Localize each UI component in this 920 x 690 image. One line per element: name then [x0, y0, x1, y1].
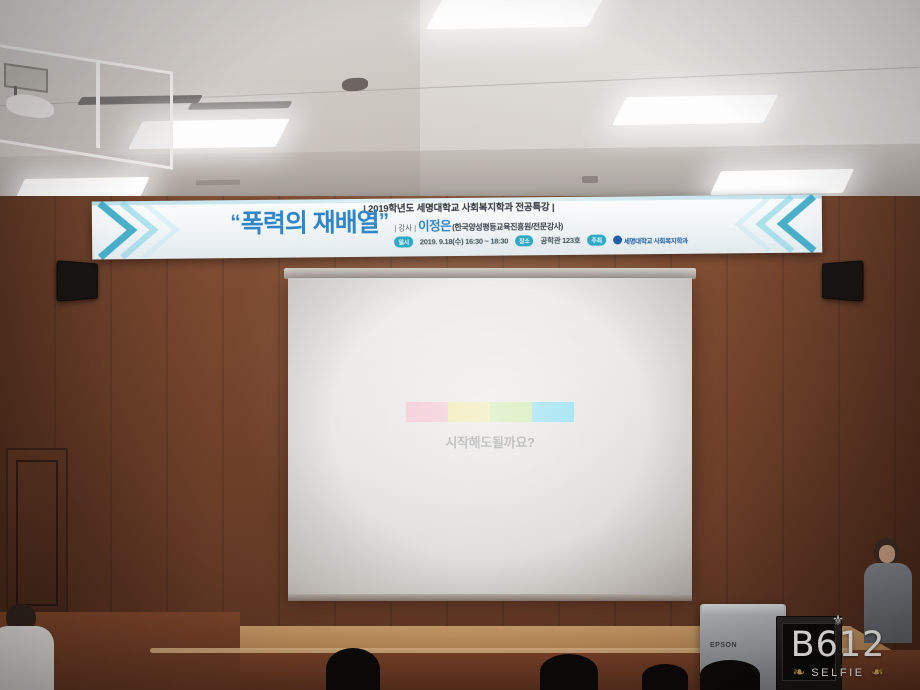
ceiling: [0, 0, 920, 205]
av-equipment-case: [776, 616, 842, 690]
door-panel: [16, 460, 58, 606]
av-equipment-panel: [782, 623, 836, 681]
banner-speaker-name: 이정은: [418, 215, 451, 234]
banner-content: | 2019학년도 세명대학교 사회복지학과 전공특강 | “ 폭력의 재배열 …: [192, 195, 727, 258]
university-emblem-icon: [613, 235, 622, 244]
banner-speaker-row: | 강사 | 이정은 (한국양성평등교육진흥원/전문강사): [394, 213, 688, 235]
screen-bottom-bar: [288, 594, 692, 601]
ceiling-mount-post: [96, 60, 100, 149]
slide-caption-text: 시작해도될까요?: [288, 432, 692, 451]
audience-silhouette: [540, 654, 598, 690]
slide-bar-segment-pink: [406, 402, 448, 422]
banner-host-logo: 세명대학교 사회복지학과: [613, 234, 688, 245]
side-door: [6, 448, 68, 622]
lecture-hall-photo: 시작해도될까요? | 2019학년도 세명대학교 사회복지학과 전공특강 | “: [0, 0, 920, 690]
banner-date-text: 2019. 9.18(수) 16:30 ~ 18:30: [420, 236, 508, 248]
banner-meta-row: 일시 2019. 9.18(수) 16:30 ~ 18:30 장소 공학관 12…: [394, 234, 688, 248]
banner-chevron-right: [726, 194, 823, 253]
audience-silhouette: [642, 664, 688, 690]
wall-speaker-right: [822, 260, 864, 301]
ceiling-light-panel: [612, 95, 778, 126]
banner-host-text: 세명대학교 사회복지학과: [624, 234, 688, 245]
audience-silhouette: [326, 648, 380, 690]
slide-bar-segment-yellow: [448, 402, 490, 422]
slide-bar-segment-green: [490, 402, 532, 422]
banner-details: | 강사 | 이정은 (한국양성평등교육진흥원/전문강사) 일시 2019. 9…: [394, 208, 688, 248]
banner-place-text: 공학관 123호: [541, 235, 581, 246]
ceiling-light-panel: [426, 0, 607, 29]
banner-main-row: “ 폭력의 재배열 ” | 강사 | 이정은 (한국양성평등교육진흥원/전문강사…: [192, 207, 726, 249]
banner-place-pill: 장소: [515, 235, 534, 246]
ceiling-vent: [196, 180, 240, 186]
event-banner: | 2019학년도 세명대학교 사회복지학과 전공특강 | “ 폭력의 재배열 …: [92, 194, 823, 259]
ceiling-sensor-icon: [582, 176, 598, 183]
banner-title: 폭력의 재배열: [241, 211, 379, 237]
banner-quote-open: “: [230, 212, 241, 233]
person-torso: [864, 563, 912, 643]
banner-host-pill: 주최: [587, 235, 606, 246]
banner-quote-close: ”: [379, 211, 390, 232]
banner-speaker-affiliation: (한국양성평등교육진흥원/전문강사): [452, 221, 563, 233]
projector-top-panel: [702, 604, 784, 616]
banner-date-pill: 일시: [394, 236, 413, 247]
slide-bar-segment-cyan: [532, 402, 574, 422]
banner-speaker-tag: | 강사 |: [394, 222, 416, 233]
projection-screen: 시작해도될까요?: [288, 278, 692, 598]
person-torso: [0, 626, 54, 690]
person-face: [879, 545, 895, 563]
banner-chevron-left: [92, 201, 189, 260]
audience-silhouette: [700, 660, 760, 690]
ceiling-light-panel: [710, 169, 854, 195]
wall-speaker-left: [56, 260, 98, 301]
slide-color-bar: [406, 402, 574, 422]
person-standing-right: [862, 538, 914, 643]
person-foreground-left: [0, 604, 54, 690]
projector-brand-label: EPSON: [710, 642, 737, 649]
